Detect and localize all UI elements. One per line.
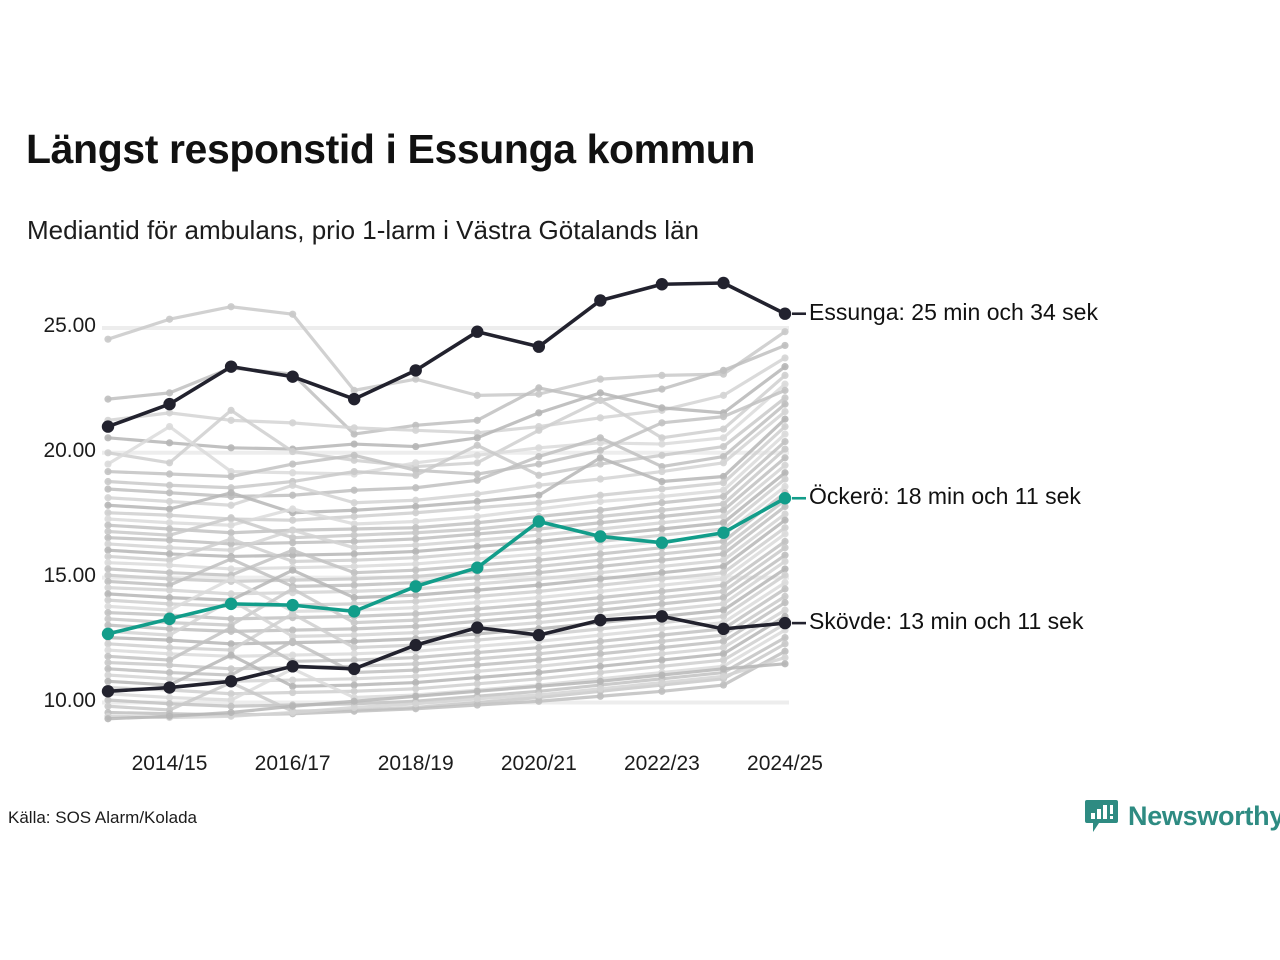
data-point (533, 515, 545, 527)
data-point (779, 308, 791, 320)
data-point (410, 364, 422, 376)
data-point (471, 561, 483, 573)
data-point (286, 660, 298, 672)
data-point (163, 398, 175, 410)
newsworthy-logo: Newsworthy (1084, 798, 1280, 834)
data-point (225, 598, 237, 610)
bar-chart-speech-bubble-icon (1084, 798, 1119, 834)
y-axis-tick-label: 15.00 (0, 564, 96, 588)
data-point (102, 628, 114, 640)
data-point (594, 294, 606, 306)
y-axis-tick-label: 25.00 (0, 314, 96, 338)
data-point (779, 492, 791, 504)
data-point (348, 393, 360, 405)
data-point (717, 527, 729, 539)
data-point (656, 278, 668, 290)
data-point (779, 617, 791, 629)
x-axis-tick-label: 2022/23 (592, 752, 732, 776)
series-annotation-ockero: Öckerö: 18 min och 11 sek (809, 483, 1081, 510)
x-axis-tick-label: 2020/21 (469, 752, 609, 776)
x-axis-tick-label: 2016/17 (223, 752, 363, 776)
data-point (410, 639, 422, 651)
data-point (471, 325, 483, 337)
data-point (656, 537, 668, 549)
series-annotation-essunga: Essunga: 25 min och 34 sek (809, 299, 1098, 326)
data-point (163, 681, 175, 693)
x-axis-tick-label: 2014/15 (100, 752, 240, 776)
data-point (410, 580, 422, 592)
data-point (348, 663, 360, 675)
data-point (286, 599, 298, 611)
data-point (348, 605, 360, 617)
data-point (533, 340, 545, 352)
y-axis-tick-label: 10.00 (0, 689, 96, 713)
data-point (533, 629, 545, 641)
background-series (104, 342, 788, 438)
data-point (102, 420, 114, 432)
data-point (225, 675, 237, 687)
data-point (594, 530, 606, 542)
series-annotation-skovde: Skövde: 13 min och 11 sek (809, 608, 1083, 635)
data-point (102, 685, 114, 697)
source-caption: Källa: SOS Alarm/Kolada (8, 808, 197, 828)
data-point (594, 614, 606, 626)
y-axis-tick-label: 20.00 (0, 439, 96, 463)
logo-wordmark: Newsworthy (1128, 801, 1280, 832)
x-axis-tick-label: 2018/19 (346, 752, 486, 776)
data-point (225, 360, 237, 372)
x-axis-tick-label: 2024/25 (715, 752, 855, 776)
data-point (471, 621, 483, 633)
data-point (163, 613, 175, 625)
data-point (656, 610, 668, 622)
chart-page: Längst responstid i Essunga kommun Media… (0, 0, 1280, 960)
data-point (717, 277, 729, 289)
data-point (717, 623, 729, 635)
data-point (286, 370, 298, 382)
